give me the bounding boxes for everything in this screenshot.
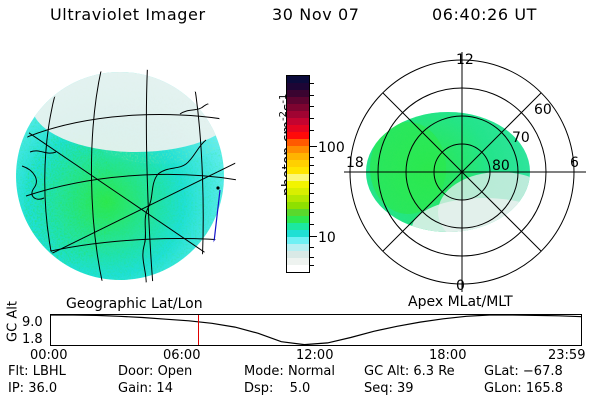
colorbar-panel: photon cm-2s-1 100 10 xyxy=(266,48,352,296)
header: Ultraviolet Imager 30 Nov 07 06:40:26 UT xyxy=(0,5,600,31)
colorbar-minor-tick xyxy=(309,130,314,131)
orbit-xtick-3: 18:00 xyxy=(429,348,466,363)
colorbar-minor-tick xyxy=(309,193,314,194)
current-time-cursor[interactable] xyxy=(198,315,199,345)
colorbar-gradient xyxy=(287,76,309,272)
status-dsp-value: 5.0 xyxy=(290,381,311,396)
colorbar-minor-tick xyxy=(309,257,314,258)
status-mode-label: Mode: xyxy=(244,364,284,379)
colorbar-minor-tick xyxy=(309,83,314,84)
status-seq-label: Seq: xyxy=(364,381,393,396)
orbit-altitude-curve xyxy=(50,314,582,346)
status-glon-label: GLon: xyxy=(484,381,522,396)
status-gcalt-value: 6.3 Re xyxy=(413,364,454,379)
colorbar-minor-tick xyxy=(309,212,314,213)
status-door-label: Door: xyxy=(118,364,153,379)
auroral-oval-emission xyxy=(344,42,594,298)
orbit-altitude-panel[interactable]: GC Alt 9.0 1.8 00:00 06:00 12:00 18:00 2… xyxy=(0,306,600,360)
colorbar-major-tick xyxy=(309,236,317,237)
instrument-title: Ultraviolet Imager xyxy=(50,5,206,24)
status-door: Door: Open xyxy=(118,364,192,379)
ultraviolet-imager-display: Ultraviolet Imager 30 Nov 07 06:40:26 UT xyxy=(0,0,600,400)
aurora-emission-disk xyxy=(8,48,266,296)
status-gain-value: 14 xyxy=(156,381,173,396)
status-flt: Flt: LBHL xyxy=(8,364,66,379)
colorbar-minor-tick xyxy=(309,202,314,203)
colorbar-minor-tick xyxy=(309,165,314,166)
colorbar-minor-tick xyxy=(309,247,314,248)
colorbar-gradient-box[interactable] xyxy=(286,75,310,273)
status-gcalt: GC Alt: 6.3 Re xyxy=(364,364,455,379)
status-glat-value: −67.8 xyxy=(523,364,563,379)
observation-date: 30 Nov 07 xyxy=(272,5,360,24)
status-mode-value: Normal xyxy=(288,364,335,379)
status-seq: Seq: 39 xyxy=(364,381,414,396)
mlt-label-0: 0 xyxy=(456,278,465,294)
orbit-xtick-0: 00:00 xyxy=(30,348,67,363)
observation-time: 06:40:26 UT xyxy=(432,5,537,24)
colorbar-minor-tick xyxy=(309,183,314,184)
mlat-label-80: 80 xyxy=(492,158,510,174)
geographic-globe-plot xyxy=(8,48,266,296)
polar-grid xyxy=(344,52,586,292)
orbit-xtick-4: 23:59 xyxy=(548,348,585,363)
orbit-y-axis-title: GC Alt xyxy=(6,298,21,346)
colorbar-minor-tick xyxy=(309,173,314,174)
mlat-label-70: 70 xyxy=(512,130,530,146)
apex-mlat-mlt-plot: 12 18 6 0 60 70 80 xyxy=(344,42,594,298)
colorbar-minor-tick xyxy=(309,157,314,158)
apex-polar-panel[interactable]: 12 18 6 0 60 70 80 xyxy=(344,42,594,298)
status-door-value: Open xyxy=(158,364,193,379)
status-glon: GLon: 165.8 xyxy=(484,381,563,396)
orbit-xtick-1: 06:00 xyxy=(163,348,200,363)
status-ip-value: 36.0 xyxy=(28,381,57,396)
colorbar-label-100: 100 xyxy=(318,141,345,155)
status-glat: GLat: −67.8 xyxy=(484,364,563,379)
colorbar-minor-tick xyxy=(309,106,314,107)
colorbar-minor-tick xyxy=(309,95,314,96)
status-dsp: Dsp: 5.0 xyxy=(244,381,310,396)
orbit-y-label-top: 9.0 xyxy=(22,315,43,330)
status-glon-value: 165.8 xyxy=(526,381,563,396)
orbit-xtick-2: 12:00 xyxy=(296,348,333,363)
mlt-label-6: 6 xyxy=(570,155,579,171)
colorbar-minor-tick xyxy=(309,265,314,266)
colorbar-ticks xyxy=(309,75,317,273)
status-ip-label: IP: xyxy=(8,381,24,396)
colorbar-label-10: 10 xyxy=(318,231,336,245)
status-gcalt-label: GC Alt: xyxy=(364,364,409,379)
colorbar-minor-tick xyxy=(309,224,314,225)
mlt-label-18: 18 xyxy=(346,155,364,171)
colorbar-major-tick xyxy=(309,146,317,147)
status-dsp-label: Dsp: xyxy=(244,381,273,396)
status-flt-value: LBHL xyxy=(33,364,66,379)
colorbar-minor-tick xyxy=(309,118,314,119)
mlt-label-12: 12 xyxy=(456,52,474,68)
status-glat-label: GLat: xyxy=(484,364,519,379)
mlat-label-60: 60 xyxy=(534,102,552,118)
orbit-y-label-bottom: 1.8 xyxy=(22,332,43,347)
status-gain-label: Gain: xyxy=(118,381,152,396)
status-flt-label: Flt: xyxy=(8,364,29,379)
status-mode: Mode: Normal xyxy=(244,364,335,379)
geographic-image-panel[interactable] xyxy=(8,48,266,296)
status-seq-value: 39 xyxy=(397,381,414,396)
status-gain: Gain: 14 xyxy=(118,381,173,396)
status-footer: Flt: LBHL IP: 36.0 Door: Open Gain: 14 M… xyxy=(0,364,600,400)
status-ip: IP: 36.0 xyxy=(8,381,57,396)
